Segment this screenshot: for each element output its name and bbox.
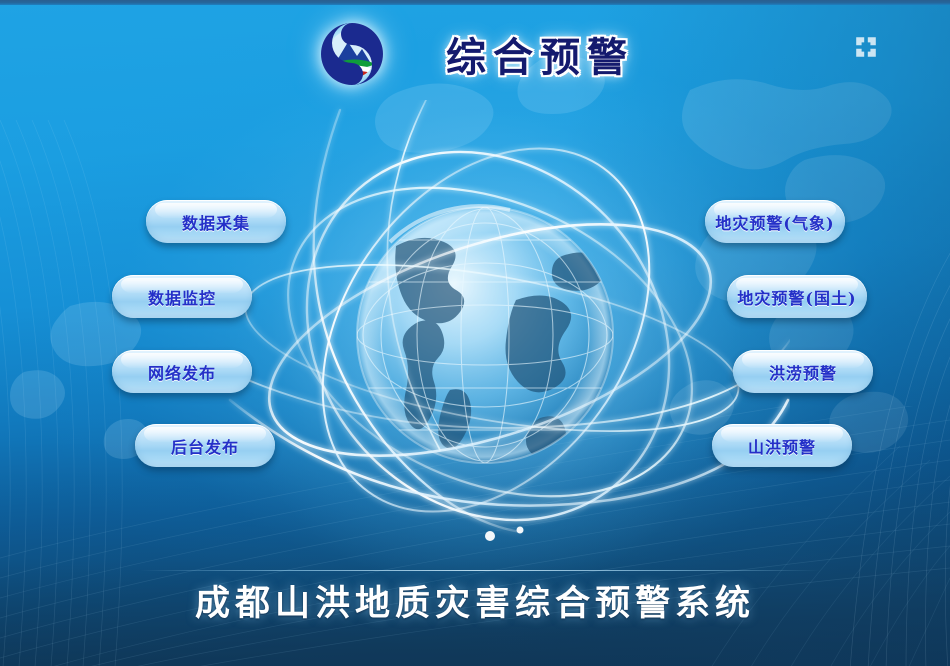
nav-button-label: 洪涝预警 bbox=[769, 360, 837, 384]
nav-button-label: 山洪预警 bbox=[748, 434, 816, 458]
nav-button-label: 数据采集 bbox=[182, 210, 250, 234]
title-divider bbox=[140, 570, 820, 571]
nav-button-label: 地灾预警(气象) bbox=[715, 210, 834, 234]
app-header: 综合预警 bbox=[0, 8, 950, 100]
nav-button-label: 网络发布 bbox=[148, 360, 216, 384]
application-window: 综合预警 数据采集 数据监控 网络发布 后台发布 地灾预警(气象) 地灾预警(国… bbox=[0, 0, 950, 666]
emergency-warning-logo-icon bbox=[316, 18, 388, 90]
nav-button-label: 后台发布 bbox=[171, 434, 239, 458]
nav-button-geo-warning-meteorology[interactable]: 地灾预警(气象) bbox=[705, 200, 845, 243]
page-title: 综合预警 bbox=[446, 25, 634, 83]
nav-button-backend-publish[interactable]: 后台发布 bbox=[135, 424, 275, 467]
globe-graphic bbox=[300, 150, 670, 520]
nav-button-label: 数据监控 bbox=[148, 285, 216, 309]
nav-button-web-publish[interactable]: 网络发布 bbox=[112, 350, 252, 393]
nav-button-mountain-flood-warning[interactable]: 山洪预警 bbox=[712, 424, 852, 467]
system-title: 成都山洪地质灾害综合预警系统 bbox=[0, 575, 950, 626]
nav-button-data-monitoring[interactable]: 数据监控 bbox=[112, 275, 252, 318]
window-topbar bbox=[0, 0, 950, 5]
nav-button-flood-warning[interactable]: 洪涝预警 bbox=[733, 350, 873, 393]
nav-button-geo-warning-land[interactable]: 地灾预警(国土) bbox=[727, 275, 867, 318]
nav-button-data-collection[interactable]: 数据采集 bbox=[146, 200, 286, 243]
nav-button-label: 地灾预警(国土) bbox=[737, 285, 856, 309]
expand-arrows-icon[interactable] bbox=[855, 36, 877, 58]
